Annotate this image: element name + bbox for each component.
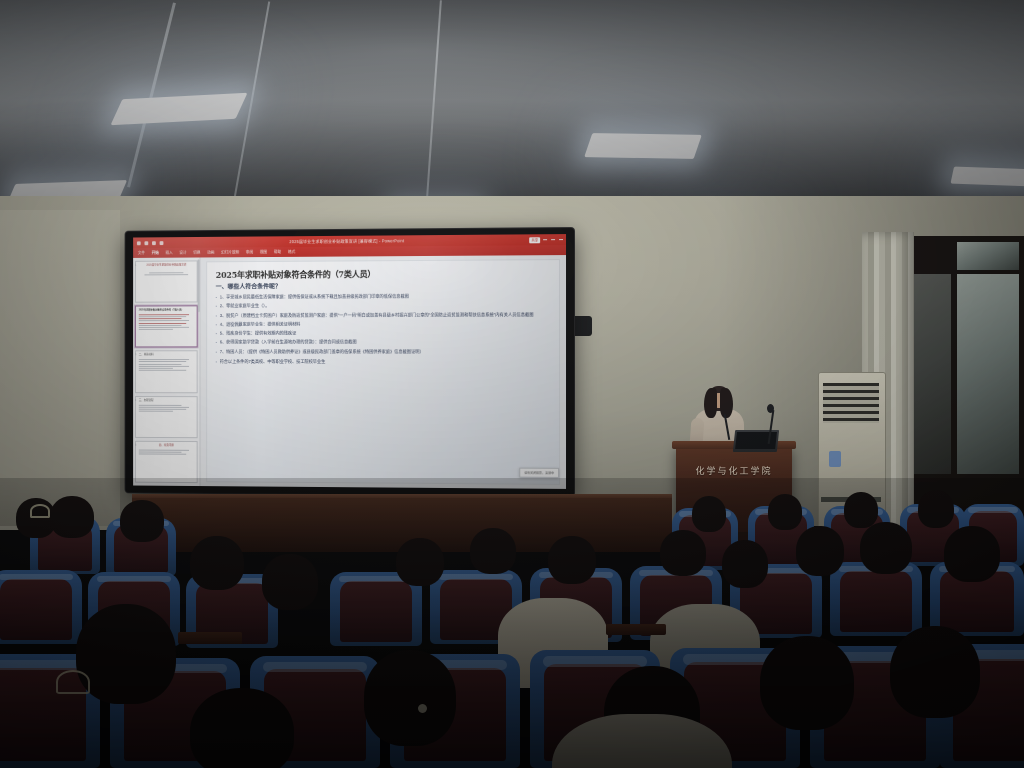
audience-head — [844, 492, 878, 528]
slide-editing-area: 2025年求职补贴对象符合条件的（7类人员） 一、哪些人符合条件呢？ ▪ 1、享… — [200, 255, 566, 489]
projection-screen: 2025届毕业生求职创业补贴政策宣讲 [兼容模式] - PowerPoint 共… — [126, 228, 574, 496]
bullet-marker-icon: ▪ — [216, 313, 217, 320]
tab-animations[interactable]: 动画 — [207, 250, 214, 255]
audience-head — [470, 528, 516, 574]
bullet-marker-icon: ▪ — [216, 359, 217, 365]
tab-review[interactable]: 审阅 — [246, 250, 253, 255]
thumb-number-2: 2 — [135, 309, 136, 312]
tab-format[interactable]: 格式 — [288, 249, 295, 254]
slide-subtitle: 一、哪些人符合条件呢？ — [216, 280, 550, 291]
audience-head — [190, 688, 294, 768]
bullet-text-5: 5、残疾身份学生：提供有效期内的残疾证 — [220, 330, 550, 337]
thumb-lines-2 — [139, 314, 194, 330]
window-pane-top — [957, 242, 1019, 270]
thumbnail-scrollbar[interactable] — [198, 259, 200, 312]
slide-bullet-5: ▪ 5、残疾身份学生：提供有效期内的残疾证 — [216, 330, 550, 337]
slide-bullet-4: ▪ 4、退役佩戴家庭毕业生：提供相关证明材料 — [216, 321, 550, 328]
bullet-marker-icon: ▪ — [216, 340, 217, 347]
slide-bullet-list: ▪ 1、享受城乡居民最低生活保障家庭：提供低保证或从系统下载且加盖县级民政部门印… — [216, 293, 550, 355]
audience-head — [396, 538, 444, 586]
seat-writing-tray — [606, 624, 666, 635]
bullet-text-4: 4、退役佩戴家庭毕业生：提供相关证明材料 — [220, 321, 550, 328]
thumb-title-4: 三、办理流程 — [139, 399, 194, 403]
thumb-title-1: 2025届毕业生求职创业补贴政策宣讲 — [139, 263, 194, 267]
current-slide[interactable]: 2025年求职补贴对象符合条件的（7类人员） 一、哪些人符合条件呢？ ▪ 1、享… — [206, 259, 560, 485]
audience-head — [796, 526, 844, 576]
hair-clip — [56, 670, 90, 694]
powerpoint-window: 2025届毕业生求职创业补贴政策宣讲 [兼容模式] - PowerPoint 共… — [133, 234, 566, 489]
venue-label: 化学与化工学院 — [676, 464, 792, 477]
hair-clip — [30, 504, 50, 518]
bullet-text-3: 3、脱贫户（原建档立卡贫困户）家庭及防返贫监测户家庭：提供"一户一码"明白或加盖… — [220, 312, 550, 320]
ac-vent-grille — [823, 383, 879, 423]
thumb-title-5: 四、常见问题 — [139, 444, 194, 448]
slide-thumbnail-2[interactable]: 2 2025年求职补贴对象符合条件的（7类人员） — [135, 306, 198, 348]
tab-design[interactable]: 设计 — [179, 250, 186, 255]
tab-home[interactable]: 开始 — [152, 250, 159, 255]
slide-bullet-2: ▪ 2、零就业家庭毕业生（）。 — [216, 302, 550, 310]
tab-transitions[interactable]: 切换 — [193, 250, 200, 255]
slide-bullet-3: ▪ 3、脱贫户（原建档立卡贫困户）家庭及防返贫监测户家庭：提供"一户一码"明白或… — [216, 312, 550, 320]
audience-head — [722, 540, 768, 588]
slide-thumbnail-pane[interactable]: 1 2025届毕业生求职创业补贴政策宣讲 2 2025年求职补贴对象符合条件的（… — [133, 257, 200, 486]
ac-badge — [829, 451, 841, 467]
thumb-lines-3 — [139, 359, 194, 371]
audience-head — [660, 530, 706, 576]
audience-head — [768, 494, 802, 530]
thumb-number-4: 4 — [135, 399, 136, 402]
audience-head — [692, 496, 726, 532]
thumb-lines-5 — [139, 449, 194, 455]
thumb-number-3: 3 — [135, 354, 136, 357]
bullet-text-2: 2、零就业家庭毕业生（）。 — [220, 302, 550, 310]
thumb-lines-1 — [139, 269, 194, 275]
hair-tie — [418, 704, 427, 713]
tab-insert[interactable]: 插入 — [165, 250, 172, 255]
window-controls[interactable] — [543, 239, 563, 240]
audience-head — [76, 604, 176, 704]
audience-head — [364, 650, 456, 746]
audience-head — [548, 536, 596, 584]
slide-thumbnail-1[interactable]: 1 2025届毕业生求职创业补贴政策宣讲 — [135, 260, 198, 302]
slide-thumbnail-3[interactable]: 3 二、申请材料 — [135, 351, 198, 393]
tab-slideshow[interactable]: 幻灯片放映 — [221, 250, 239, 255]
maximize-icon[interactable] — [551, 239, 555, 240]
slide-title: 2025年求职补贴对象符合条件的（7类人员） — [216, 267, 550, 281]
slide-bullet-6: ▪ 6、获得国家助学贷款（入学前在生源地办理的贷款）：提供合同或信息截图 — [216, 339, 550, 346]
seat-writing-tray — [178, 632, 242, 644]
audience-seating — [0, 478, 1024, 768]
slide-bullet-7: ▪ 7、特困人员：（提供《特困人员救助供养证》或县级民政部门盖章的低保系统《特困… — [216, 349, 550, 356]
audience-head — [860, 522, 912, 574]
audience-head — [890, 626, 980, 718]
window-title: 2025届毕业生求职创业补贴政策宣讲 [兼容模式] - PowerPoint — [133, 237, 566, 246]
note-popup[interactable]: 请勿关闭投影，演讲中 — [519, 468, 559, 478]
close-icon[interactable] — [559, 239, 563, 240]
thumb-lines-4 — [139, 404, 194, 412]
presenter-laptop — [733, 430, 779, 452]
bullet-marker-icon: ▪ — [216, 331, 217, 338]
bullet-text-6: 6、获得国家助学贷款（入学前在生源地办理的贷款）：提供合同或信息截图 — [220, 339, 550, 346]
bullet-text-7: 7、特困人员：（提供《特困人员救助供养证》或县级民政部门盖章的低保系统《特困供养… — [220, 349, 550, 356]
microphone-head-icon — [767, 404, 774, 413]
powerpoint-body: 1 2025届毕业生求职创业补贴政策宣讲 2 2025年求职补贴对象符合条件的（… — [133, 255, 566, 489]
presenter-hair-left — [704, 388, 717, 418]
audience-head — [50, 496, 94, 538]
tab-help[interactable]: 帮助 — [274, 250, 281, 255]
audience-head — [760, 636, 854, 730]
tab-view[interactable]: 视图 — [260, 250, 267, 255]
seat[interactable] — [0, 570, 82, 644]
bullet-marker-icon: ▪ — [216, 349, 217, 356]
slide-thumbnail-5[interactable]: 5 四、常见问题 — [135, 441, 198, 484]
window-pane-left — [911, 274, 951, 474]
audience-head — [120, 500, 164, 542]
slide-bullet-1: ▪ 1、享受城乡居民最低生活保障家庭：提供低保证或从系统下载且加盖县级民政部门印… — [216, 293, 550, 301]
thumb-title-3: 二、申请材料 — [139, 354, 194, 358]
share-button[interactable]: 共享 — [529, 237, 540, 243]
audience-head — [262, 554, 318, 610]
tab-file[interactable]: 文件 — [138, 251, 145, 256]
slide-thumbnail-4[interactable]: 4 三、办理流程 — [135, 396, 198, 438]
bullet-marker-icon: ▪ — [216, 295, 217, 302]
minimize-icon[interactable] — [543, 239, 547, 240]
bullet-text-1: 1、享受城乡居民最低生活保障家庭：提供低保证或从系统下载且加盖县级民政部门印章的… — [220, 293, 550, 301]
audience-head — [918, 490, 954, 528]
slide-footer-text: 符合以上条件的7类高校、中等职业学校、技工院校毕业生 — [220, 359, 326, 365]
bullet-marker-icon: ▪ — [216, 304, 217, 311]
slide-footer-line: ▪ 符合以上条件的7类高校、中等职业学校、技工院校毕业生 — [216, 359, 550, 365]
audience-head — [190, 536, 244, 590]
thumb-number-1: 1 — [135, 264, 136, 267]
audience-head — [944, 526, 1000, 582]
lecture-hall-photo: 2025届毕业生求职创业补贴政策宣讲 [兼容模式] - PowerPoint 共… — [0, 0, 1024, 768]
presenter-hair-right — [720, 388, 733, 418]
bullet-marker-icon: ▪ — [216, 322, 217, 329]
window-pane-main — [957, 274, 1019, 474]
thumb-number-5: 5 — [135, 444, 136, 447]
thumb-title-2: 2025年求职补贴对象符合条件的（7类人员） — [139, 308, 194, 312]
